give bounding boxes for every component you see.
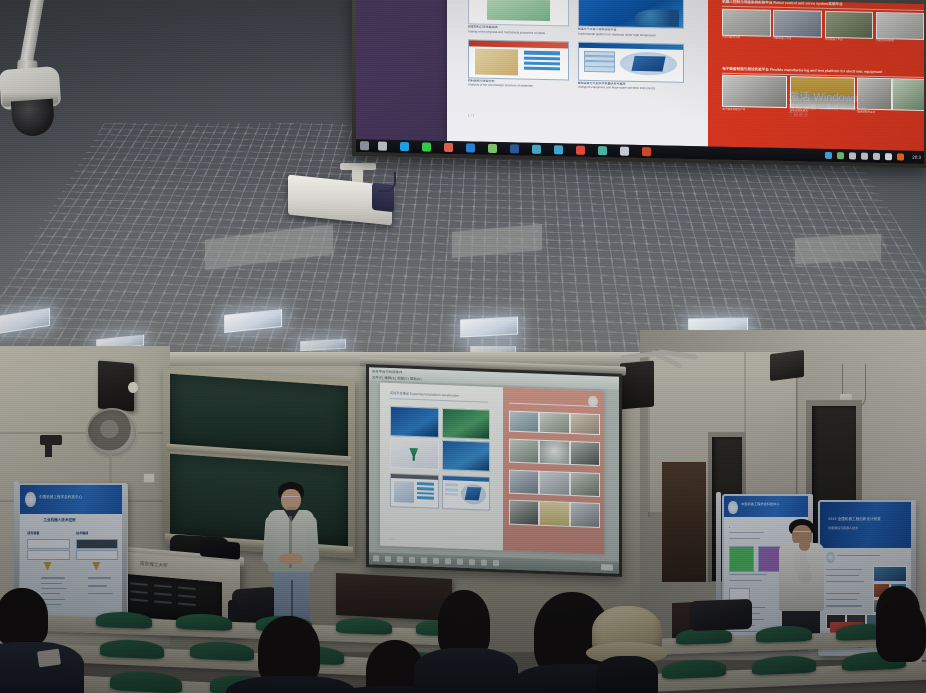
audience-front-2-shoulders — [226, 676, 356, 693]
lecture-hall-photo: 固体材料力学性能测试 Testing of the physical and m… — [0, 0, 926, 693]
seat[interactable] — [756, 625, 812, 643]
audience-front-1-shoulders — [0, 642, 84, 693]
audience-front-4-shoulders — [414, 648, 518, 693]
phone-in-hand — [37, 649, 61, 668]
bag-on-desk — [690, 599, 752, 631]
audience-front-5-head — [876, 600, 926, 662]
audience-front-1-head — [0, 588, 48, 646]
audience-hat-person-shoulders — [596, 656, 658, 693]
